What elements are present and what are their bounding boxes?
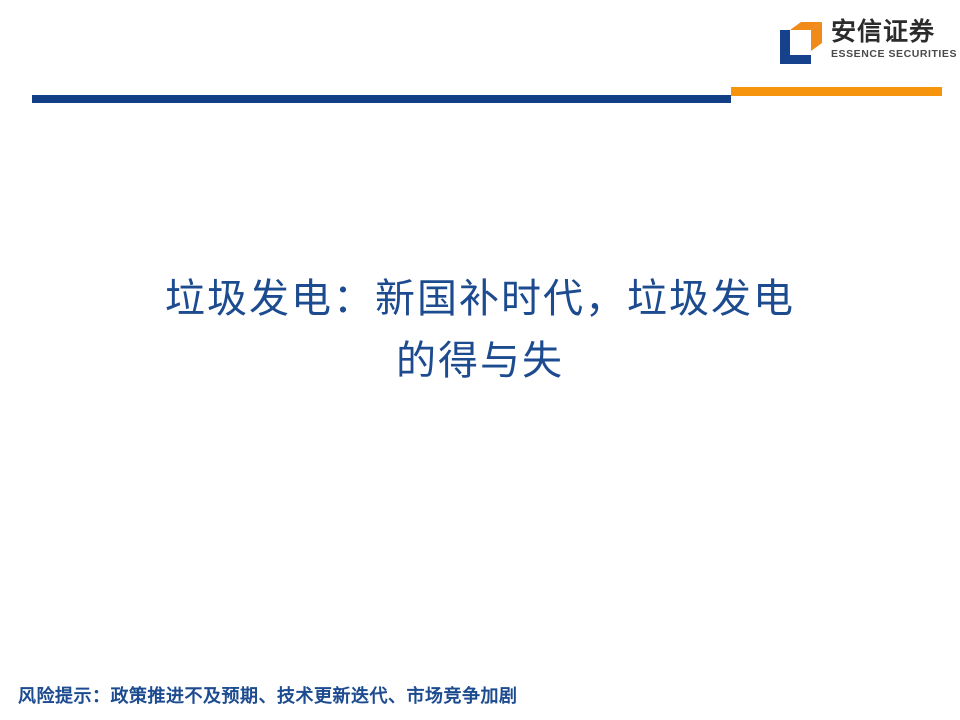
page-title-line-2: 的得与失	[110, 330, 850, 392]
essence-securities-cube-logo-icon	[778, 21, 824, 67]
page-title-line-1: 垃圾发电：新国补时代，垃圾发电	[110, 268, 850, 330]
brand-logo: 安信证券 ESSENCE SECURITIES	[778, 18, 948, 80]
presentation-slide: 安信证券 ESSENCE SECURITIES 垃圾发电：新国补时代，垃圾发电 …	[0, 0, 960, 720]
header-rule-blue	[32, 95, 731, 103]
risk-disclaimer-note: 风险提示：政策推进不及预期、技术更新迭代、市场竞争加剧	[18, 684, 518, 710]
page-title: 垃圾发电：新国补时代，垃圾发电 的得与失	[110, 268, 850, 392]
header-rule-orange	[731, 87, 942, 96]
company-name-cn: 安信证券	[831, 18, 935, 47]
company-name-en: ESSENCE SECURITIES	[831, 48, 957, 61]
brand-logo-text: 安信证券 ESSENCE SECURITIES	[831, 18, 957, 61]
